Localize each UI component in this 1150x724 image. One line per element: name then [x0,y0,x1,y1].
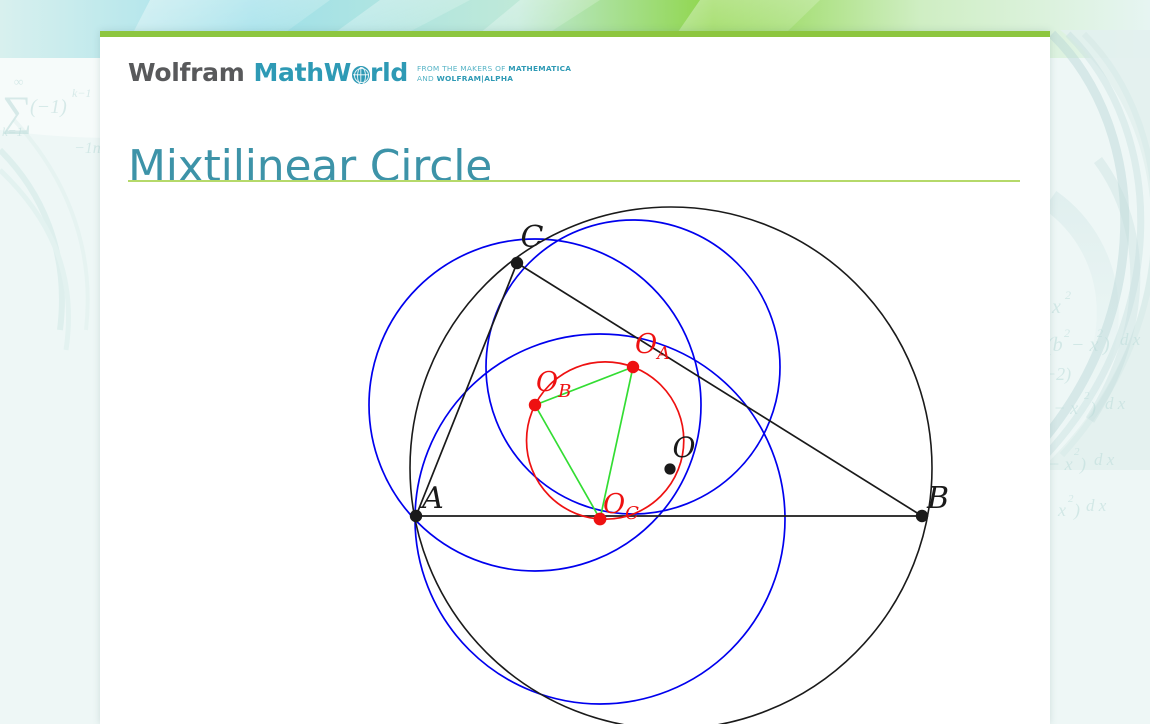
vertex-label-B: B [926,481,949,516]
site-tagline: FROM THE MAKERS OF MATHEMATICA AND WOLFR… [417,64,571,85]
center-dot-OA [627,361,639,373]
center-dot-OB [529,399,541,411]
background-formula-fragment: d x [1120,330,1140,350]
background-formula-fragment: 2 [1068,493,1074,505]
background-formula-fragment: 2 [1074,446,1080,458]
side-AC [416,263,517,516]
background-formula-fragment: 2 [1064,326,1070,341]
logo-mathworld-part1: MathW [253,60,351,85]
background-formula-fragment: k−1 [72,86,91,101]
center-label-OA-subscript: A [655,343,670,364]
background-formula-fragment: 2 [1084,390,1090,402]
logo-mathworld-part2: rld [370,60,408,85]
tagline-line-2: AND WOLFRAM|ALPHA [417,74,571,83]
globe-icon [352,66,370,84]
triangle-sides-group [416,263,922,516]
connector-OB-OC [535,405,600,519]
vertex-label-C: C [521,220,544,255]
background-formula-fragment: −1n [74,140,101,158]
background-formula-fragment: x [1058,500,1066,521]
background-formula-fragment: k=1 [2,124,23,140]
logo-wolfram-text: Wolfram [128,60,244,85]
logo-mathworld-text: MathW rld [253,60,407,85]
background-formula-fragment: x [1052,296,1061,319]
background-formula-fragment: d x [1086,496,1106,516]
title-divider [128,180,1020,182]
vertex-dot-A [410,510,422,522]
background-formula-fragment: d x [1105,394,1125,414]
vertex-dot-C [511,257,523,269]
content-card: Wolfram MathW rld FROM THE MAKERS OF MAT… [100,31,1050,724]
background-formula-fragment: ) [1103,334,1110,357]
background-formula-fragment: d x [1094,450,1114,470]
mixtilinear-circle-diagram: ABCOOAOBOC [100,191,1050,724]
side-BC [517,263,922,516]
tagline-line-1: FROM THE MAKERS OF MATHEMATICA [417,64,571,73]
tagline-line-1-strong: MATHEMATICA [508,64,571,73]
center-label-OC-subscript: C [625,503,639,524]
page-title: Mixtilinear Circle [128,142,492,192]
mixtilinear-circles-group [369,220,785,704]
background-formula-fragment: ) [1090,398,1096,419]
background-formula-fragment: (−1) [30,96,67,119]
circumcenter-dot-O [664,463,675,474]
site-header[interactable]: Wolfram MathW rld FROM THE MAKERS OF MAT… [128,55,571,85]
tagline-line-2-strong: WOLFRAM|ALPHA [437,74,514,83]
circumcenter-label-O: O [673,431,696,464]
background-formula-fragment: ∞ [14,74,23,90]
background-formula-fragment: 2 [1065,288,1071,303]
center-label-OA: OA [635,329,670,364]
tagline-line-2-plain: AND [417,74,437,83]
vertex-label-A: A [419,481,444,516]
tagline-line-1-plain: FROM THE MAKERS OF [417,64,508,73]
mixtilinear-circle-figure: ABCOOAOBOC [100,191,1050,724]
background-formula-fragment: − x [1071,334,1098,357]
background-formula-fragment: ) [1080,454,1086,475]
center-label-OC: OC [603,489,639,524]
top-accent-bar [100,31,1050,37]
background-formula-fragment: ) [1074,500,1080,521]
background-formula-fragment: − x [1048,454,1073,475]
center-label-OB-subscript: B [557,381,571,402]
